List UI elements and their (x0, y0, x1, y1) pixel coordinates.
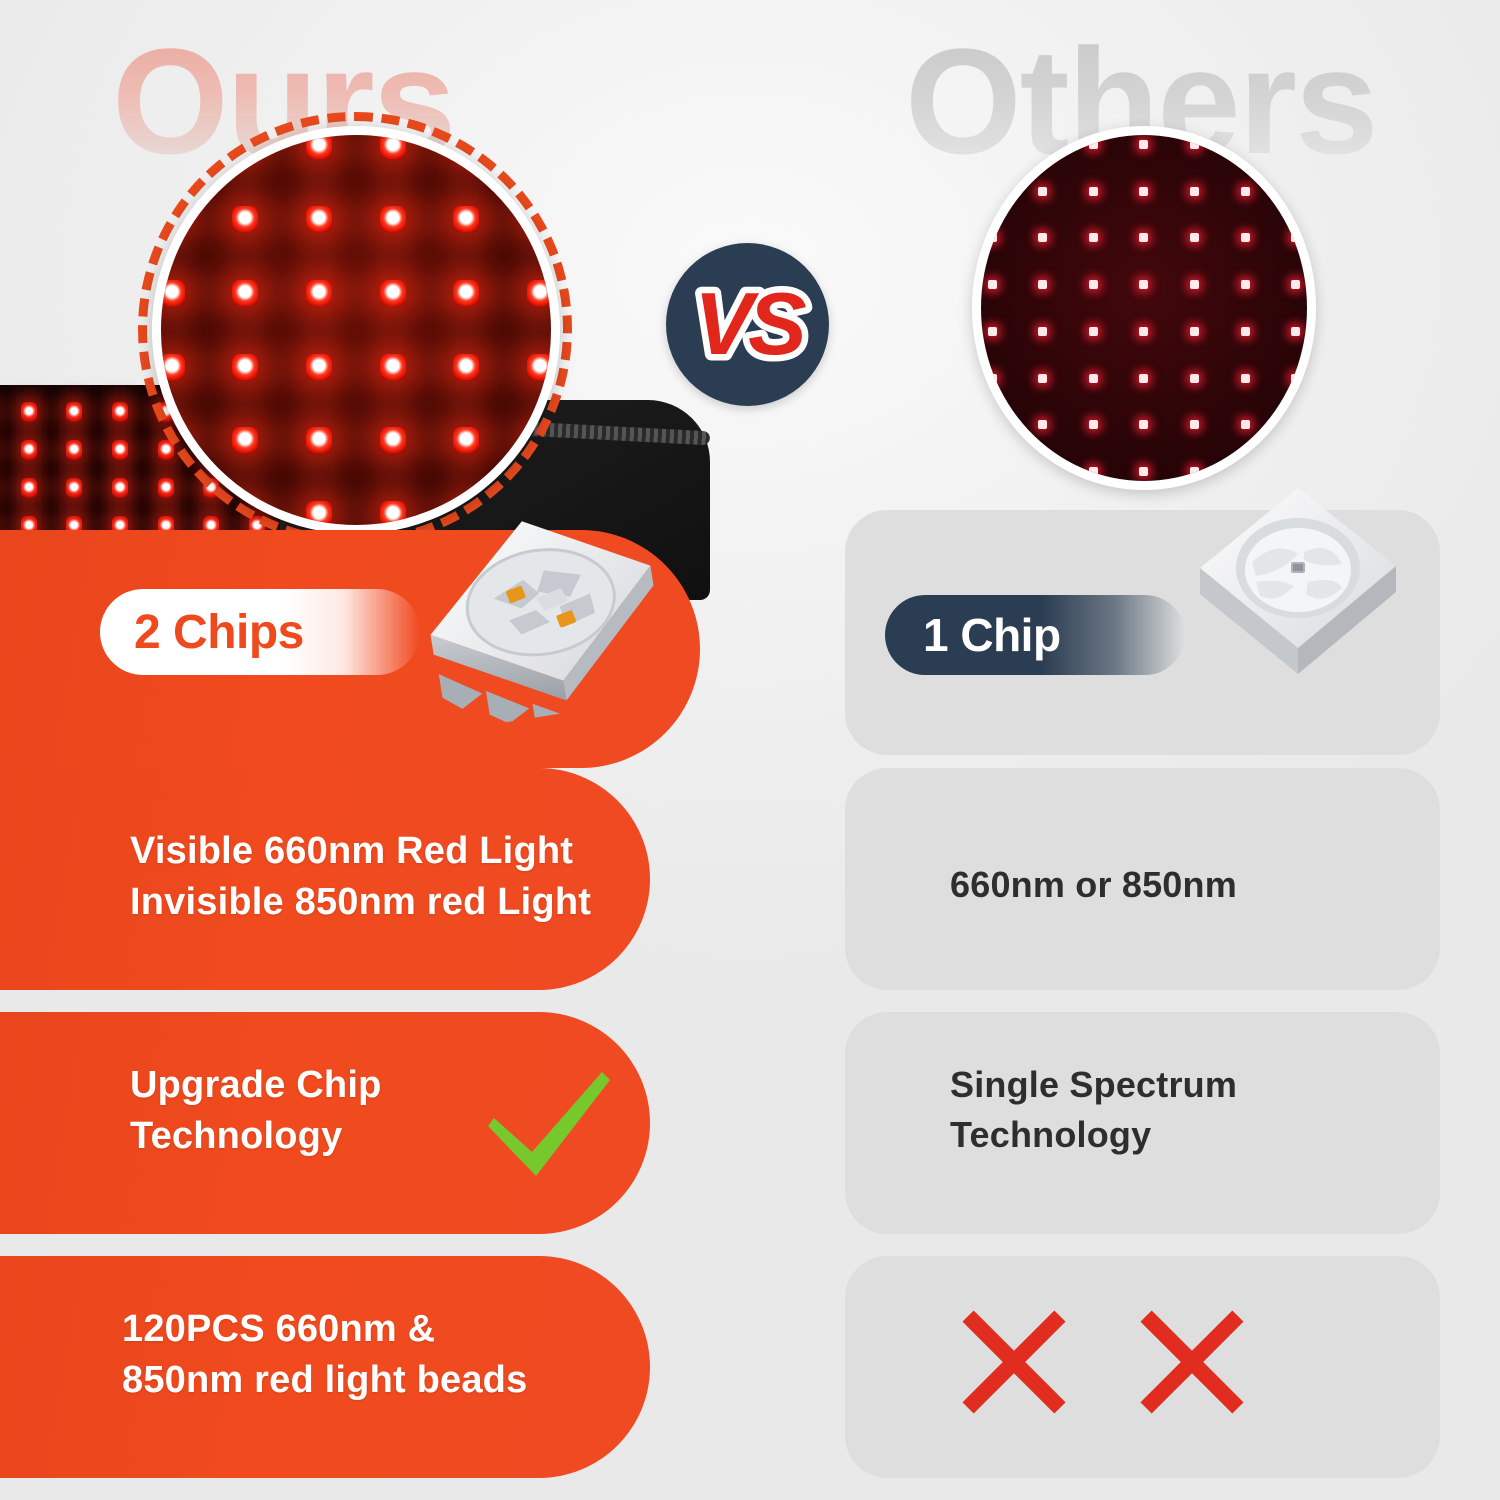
red-cross-icon (958, 1306, 1070, 1418)
ours-led-array-closeup (152, 126, 560, 534)
vs-text-icon: VS (673, 270, 823, 380)
ours-technology-line1: Upgrade Chip (130, 1060, 382, 1111)
ours-chips-pill: 2 Chips (100, 589, 420, 675)
ours-led-grid (152, 126, 560, 534)
ours-chips-label: 2 Chips (134, 605, 304, 660)
ours-beads-line1: 120PCS 660nm & (122, 1304, 527, 1355)
green-check-icon (478, 1064, 618, 1184)
versus-badge-icon: VS (666, 243, 829, 406)
comparison-infographic: Ours Others (0, 0, 1500, 1500)
others-technology-line2: Technology (950, 1110, 1237, 1160)
others-chips-pill: 1 Chip (885, 595, 1185, 675)
others-wavelength-line1: 660nm or 850nm (950, 860, 1237, 910)
ours-wavelength-line2: Invisible 850nm red Light (130, 877, 591, 928)
others-beads-crosses (958, 1306, 1248, 1426)
ours-beads-line2: 850nm red light beads (122, 1355, 527, 1406)
svg-text:VS: VS (694, 274, 806, 373)
others-technology-line1: Single Spectrum (950, 1060, 1237, 1110)
ours-wavelength-text: Visible 660nm Red Light Invisible 850nm … (130, 826, 591, 929)
ours-wavelength-line1: Visible 660nm Red Light (130, 826, 591, 877)
red-cross-icon (1136, 1306, 1248, 1418)
ours-technology-text: Upgrade Chip Technology (130, 1060, 382, 1163)
ours-beads-text: 120PCS 660nm & 850nm red light beads (122, 1304, 527, 1407)
others-chips-label: 1 Chip (923, 608, 1061, 662)
ours-technology-line2: Technology (130, 1111, 382, 1162)
led-chip-single-die-icon (1190, 482, 1405, 697)
others-led-array-closeup (972, 126, 1316, 490)
led-chip-dual-die-icon (403, 487, 683, 734)
others-technology-text: Single Spectrum Technology (950, 1060, 1237, 1161)
others-led-grid (972, 126, 1316, 490)
others-wavelength-text: 660nm or 850nm (950, 860, 1237, 910)
